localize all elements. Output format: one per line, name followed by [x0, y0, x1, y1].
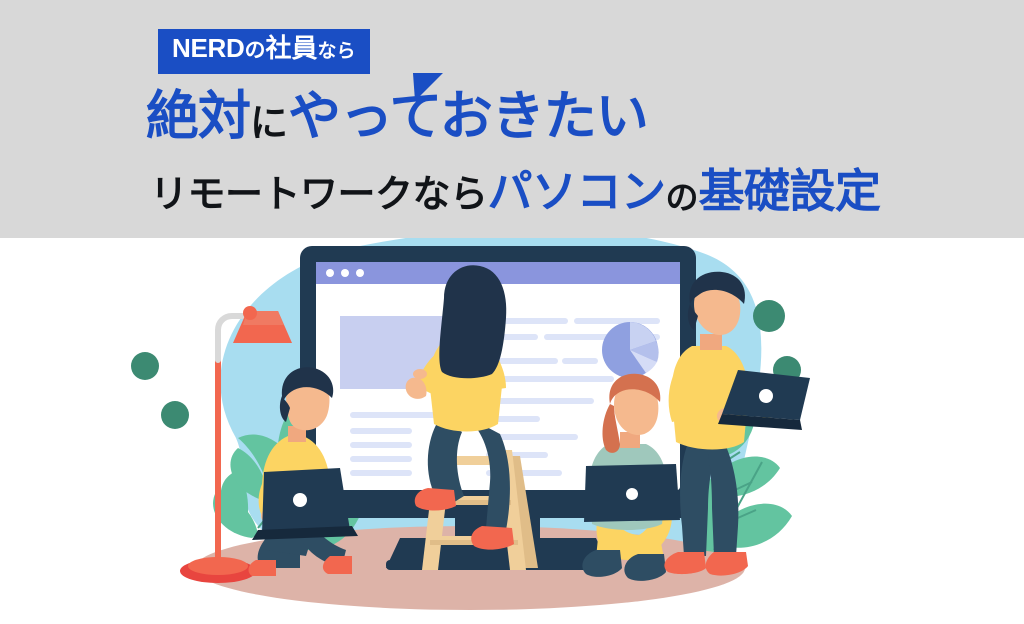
headline: 絶対 に やっておきたい [146, 90, 648, 143]
green-dot-lower-left [161, 401, 189, 429]
nerd-employee-badge: NERD の 社員 なら [158, 29, 370, 74]
headline-part-ni: に [250, 105, 288, 143]
badge-text-no: の [244, 40, 265, 61]
browser-dot-2 [341, 269, 349, 277]
subline-part-remotework: リモートワークなら [150, 176, 488, 214]
subline: リモートワークなら パソコン の 基礎設定 [150, 168, 881, 214]
badge-text-nerd: NERD [172, 35, 244, 61]
remote-work-team-illustration [0, 238, 1024, 624]
browser-dot-3 [356, 269, 364, 277]
browser-dot-1 [326, 269, 334, 277]
badge-text-shain: 社員 [265, 35, 317, 61]
page-root: NERD の 社員 なら 絶対 に やっておきたい リモートワークなら パソコン… [0, 0, 1024, 624]
subline-part-kisosettei: 基礎設定 [699, 168, 881, 214]
subline-part-pasokon: パソコン [488, 169, 666, 214]
badge-text-nara: なら [318, 42, 356, 61]
headline-part-zettai: 絶対 [146, 90, 250, 143]
subline-part-no: の [666, 181, 699, 214]
header-band: NERD の 社員 なら 絶対 に やっておきたい リモートワークなら パソコン… [0, 0, 1024, 238]
green-dot-right-top [753, 300, 785, 332]
hair-long [439, 265, 506, 378]
headline-part-yatteokitai: やっておきたい [288, 90, 648, 143]
green-dot-upper-left [131, 352, 159, 380]
